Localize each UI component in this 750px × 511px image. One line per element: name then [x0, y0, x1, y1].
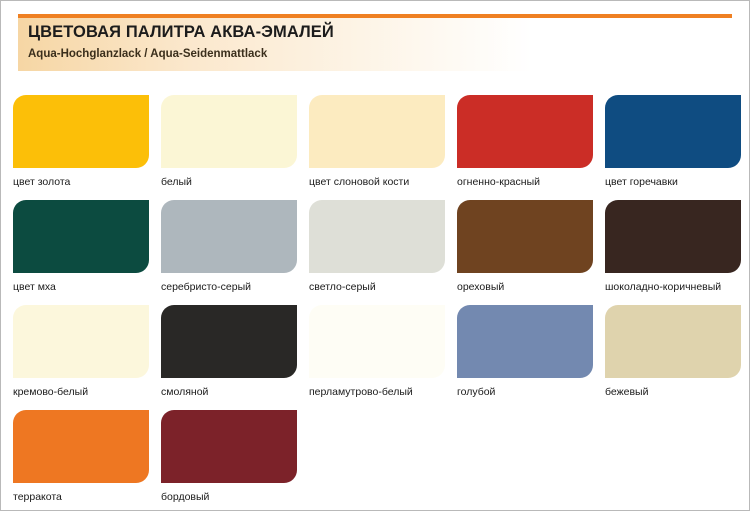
page-title: ЦВЕТОВАЯ ПАЛИТРА АКВА-ЭМАЛЕЙ: [28, 23, 334, 42]
swatch-cell[interactable]: терракота: [13, 410, 149, 503]
swatch-label: светло-серый: [309, 281, 445, 293]
swatch-label: кремово-белый: [13, 386, 149, 398]
swatch-cell[interactable]: голубой: [457, 305, 593, 398]
swatch-label: ореховый: [457, 281, 593, 293]
color-swatch[interactable]: [161, 200, 297, 273]
swatch-row: цвет мхасеребристо-серыйсветло-серыйорех…: [13, 200, 737, 305]
color-palette-page: ЦВЕТОВАЯ ПАЛИТРА АКВА-ЭМАЛЕЙ Aqua-Hochgl…: [0, 0, 750, 511]
swatch-label: бежевый: [605, 386, 741, 398]
swatch-cell[interactable]: ореховый: [457, 200, 593, 293]
color-swatch[interactable]: [457, 200, 593, 273]
color-swatch[interactable]: [161, 305, 297, 378]
color-swatch[interactable]: [13, 410, 149, 483]
swatch-cell[interactable]: светло-серый: [309, 200, 445, 293]
swatch-cell[interactable]: бежевый: [605, 305, 741, 398]
swatch-label: цвет горечавки: [605, 176, 741, 188]
swatch-grid: цвет золотабелыйцвет слоновой костиогнен…: [13, 95, 737, 511]
swatch-label: терракота: [13, 491, 149, 503]
swatch-row: цвет золотабелыйцвет слоновой костиогнен…: [13, 95, 737, 200]
swatch-label: белый: [161, 176, 297, 188]
swatch-row: терракотабордовый: [13, 410, 737, 511]
color-swatch[interactable]: [309, 200, 445, 273]
swatch-label: цвет золота: [13, 176, 149, 188]
swatch-row: кремово-белыйсмолянойперламутрово-белыйг…: [13, 305, 737, 410]
swatch-cell[interactable]: перламутрово-белый: [309, 305, 445, 398]
color-swatch[interactable]: [309, 305, 445, 378]
swatch-cell[interactable]: бордовый: [161, 410, 297, 503]
color-swatch[interactable]: [605, 95, 741, 168]
swatch-label: цвет слоновой кости: [309, 176, 445, 188]
swatch-label: голубой: [457, 386, 593, 398]
swatch-label: серебристо-серый: [161, 281, 297, 293]
color-swatch[interactable]: [161, 95, 297, 168]
page-subtitle: Aqua-Hochglanzlack / Aqua-Seidenmattlack: [28, 48, 267, 60]
color-swatch[interactable]: [309, 95, 445, 168]
color-swatch[interactable]: [13, 200, 149, 273]
color-swatch[interactable]: [161, 410, 297, 483]
swatch-label: смоляной: [161, 386, 297, 398]
swatch-cell[interactable]: белый: [161, 95, 297, 188]
swatch-label: шоколадно-коричневый: [605, 281, 741, 293]
swatch-label: цвет мха: [13, 281, 149, 293]
swatch-cell[interactable]: огненно-красный: [457, 95, 593, 188]
swatch-cell[interactable]: смоляной: [161, 305, 297, 398]
swatch-cell[interactable]: шоколадно-коричневый: [605, 200, 741, 293]
swatch-cell[interactable]: цвет слоновой кости: [309, 95, 445, 188]
color-swatch[interactable]: [605, 200, 741, 273]
color-swatch[interactable]: [13, 95, 149, 168]
swatch-cell[interactable]: серебристо-серый: [161, 200, 297, 293]
swatch-cell[interactable]: цвет золота: [13, 95, 149, 188]
swatch-cell[interactable]: цвет мха: [13, 200, 149, 293]
color-swatch[interactable]: [457, 95, 593, 168]
swatch-label: перламутрово-белый: [309, 386, 445, 398]
swatch-label: бордовый: [161, 491, 297, 503]
color-swatch[interactable]: [13, 305, 149, 378]
swatch-cell[interactable]: цвет горечавки: [605, 95, 741, 188]
color-swatch[interactable]: [605, 305, 741, 378]
swatch-cell[interactable]: кремово-белый: [13, 305, 149, 398]
color-swatch[interactable]: [457, 305, 593, 378]
swatch-label: огненно-красный: [457, 176, 593, 188]
